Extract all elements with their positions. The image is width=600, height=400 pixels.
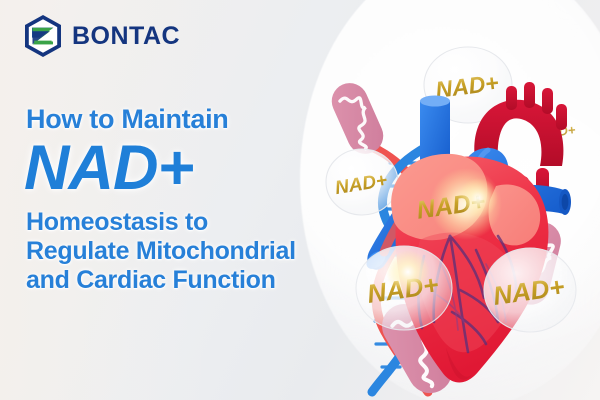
bontac-hexagon-logo-icon [22, 14, 64, 58]
brand-logo[interactable]: BONTAC [22, 14, 180, 58]
banner-root: BONTAC How to Maintain NAD+ Homeostasis … [0, 0, 600, 400]
nad-capsule-bottom-right: NAD+ [484, 248, 576, 332]
nad-capsule-bottom-left: NAD+ [356, 246, 452, 330]
brand-name: BONTAC [72, 22, 180, 50]
nad-capsule-left: NAD+ [326, 149, 398, 215]
nad-heart-illustration: NAD+ NAD+ NAD+ [300, 0, 600, 400]
brand-name-wrap: BONTAC [72, 24, 180, 49]
